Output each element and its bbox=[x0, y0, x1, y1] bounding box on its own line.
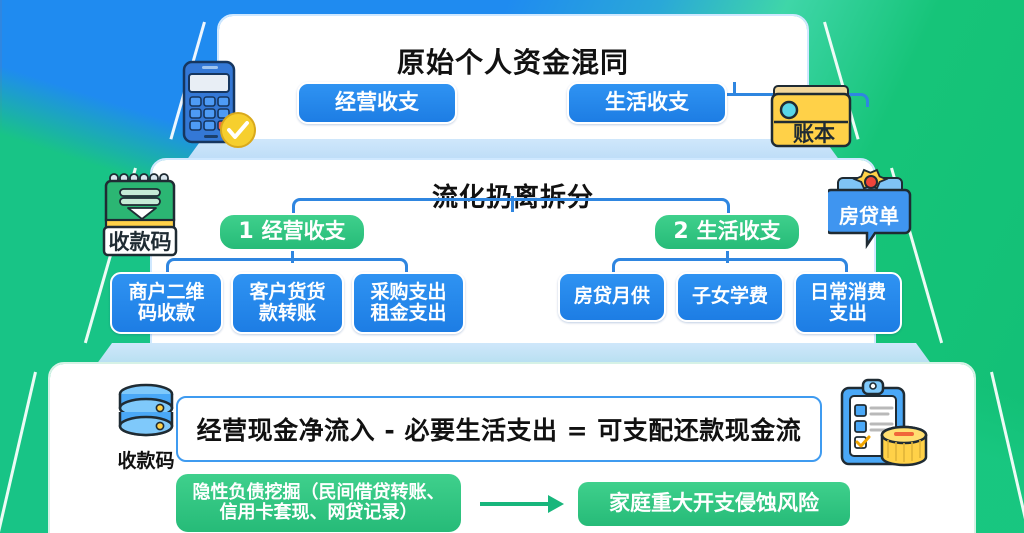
leaf-purchase-rent[interactable]: 采购支出 租金支出 bbox=[352, 272, 465, 334]
business-branch-stem bbox=[291, 251, 294, 263]
leaf-text-line1: 采购支出 bbox=[370, 281, 446, 303]
tier1-shelf-edge bbox=[186, 139, 840, 161]
pyramid-rail-left-bottom bbox=[0, 372, 37, 533]
leaf-daily-spending[interactable]: 日常消费 支出 bbox=[794, 272, 902, 334]
tier1-title: 原始个人资金混同 bbox=[222, 41, 804, 81]
hidden-debt-box[interactable]: 隐性负债挖掘（民间借贷转账、 信用卡套现、网贷记录） bbox=[176, 474, 461, 532]
leaf-text-line2: 支出 bbox=[829, 302, 867, 324]
group-number-1: 1 bbox=[238, 220, 253, 245]
group-label-1: 经营收支 bbox=[262, 220, 346, 244]
flow-arrow-icon bbox=[480, 495, 570, 513]
mortgage-bill-label: 房贷单 bbox=[839, 204, 899, 228]
leaf-merchant-qr[interactable]: 商户二维 码收款 bbox=[110, 272, 223, 334]
pyramid-rail-right-bottom bbox=[990, 372, 1024, 533]
group-label-2: 生活收支 bbox=[697, 220, 781, 244]
leaf-mortgage-monthly[interactable]: 房贷月供 bbox=[558, 272, 666, 322]
living-branch-stem bbox=[726, 251, 729, 263]
pos-terminal-icon bbox=[176, 58, 248, 148]
ledger-book-label: 账本 bbox=[793, 122, 835, 146]
payment-code-icon: 收款码 bbox=[98, 172, 186, 258]
leaf-text-line1: 客户货货 bbox=[249, 281, 325, 303]
database-label: 收款码 bbox=[98, 446, 194, 473]
tier2-connector-stem bbox=[511, 196, 514, 212]
leaf-text-line2: 款转账 bbox=[259, 302, 316, 324]
leaf-customer-payment[interactable]: 客户货货 款转账 bbox=[231, 272, 344, 334]
box-living-income[interactable]: 生活收支 bbox=[567, 82, 727, 124]
box-business-income[interactable]: 经营收支 bbox=[297, 82, 457, 124]
group-chip-business[interactable]: 1 经营收支 bbox=[218, 213, 366, 251]
ledger-book-icon: 账本 bbox=[768, 84, 854, 150]
tier1-connector-stem bbox=[733, 82, 736, 94]
hidden-debt-line2: 信用卡套现、网贷记录） bbox=[220, 502, 418, 523]
hidden-debt-line1: 隐性负债挖掘（民间借贷转账、 bbox=[193, 482, 445, 503]
infographic-canvas: 原始个人资金混同 经营收支 生活收支 流化扔离拆分 1 经营收支 2 生活收支 … bbox=[0, 0, 1024, 533]
group-chip-living[interactable]: 2 生活收支 bbox=[653, 213, 801, 251]
leaf-tuition[interactable]: 子女学费 bbox=[676, 272, 784, 322]
tier2-shelf-edge bbox=[96, 343, 932, 365]
clipboard-coins-icon bbox=[836, 378, 932, 470]
group-number-2: 2 bbox=[673, 220, 688, 245]
leaf-text-line2: 码收款 bbox=[138, 302, 195, 324]
risk-box[interactable]: 家庭重大开支侵蚀风险 bbox=[578, 482, 850, 526]
payment-code-label: 收款码 bbox=[109, 230, 172, 254]
leaf-text-line1: 商户二维 bbox=[128, 281, 204, 303]
check-badge-icon bbox=[218, 110, 258, 150]
tier2-center-divider bbox=[0, 0, 2, 130]
leaf-text-line2: 租金支出 bbox=[370, 302, 446, 324]
leaf-text-line1: 日常消费 bbox=[810, 281, 886, 303]
cash-flow-equation: 经营现金净流入 - 必要生活支出 = 可支配还款现金流 bbox=[176, 396, 822, 462]
database-icon: 收款码 bbox=[98, 382, 194, 464]
mortgage-bill-icon: 房贷单 bbox=[828, 168, 914, 252]
